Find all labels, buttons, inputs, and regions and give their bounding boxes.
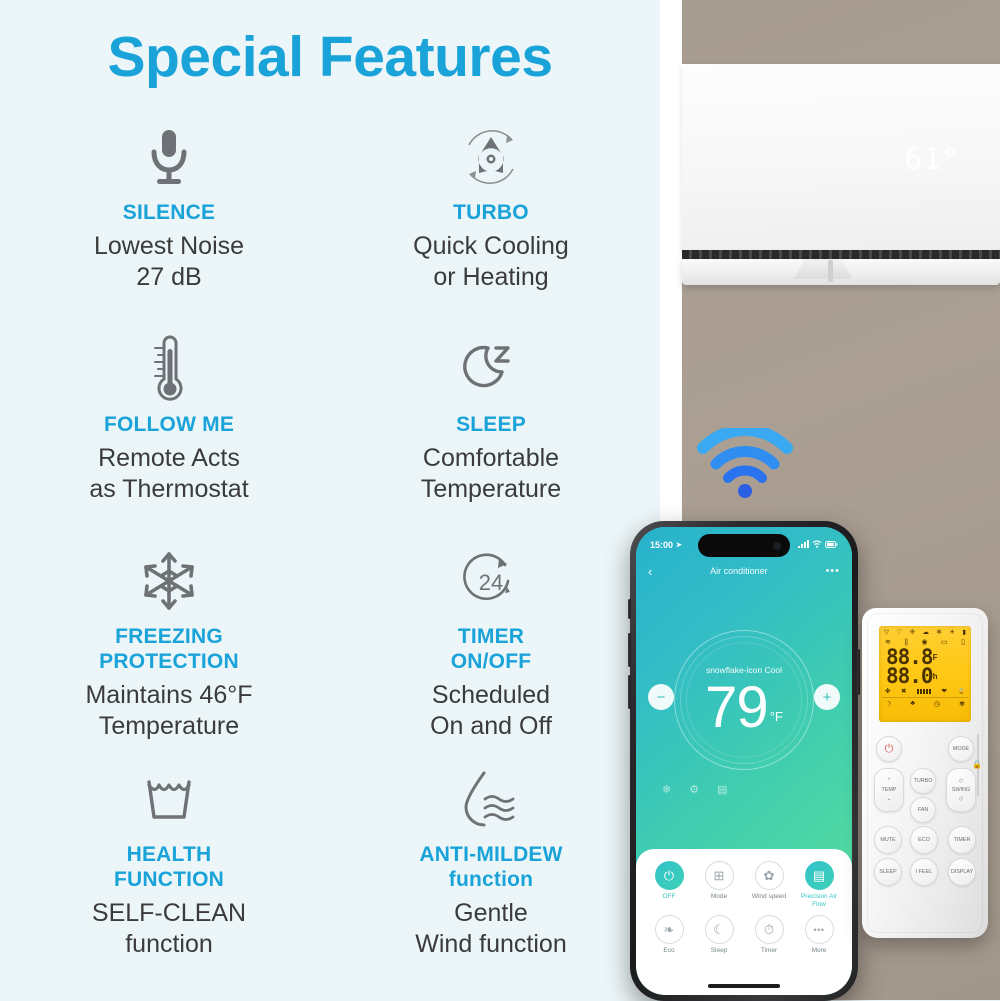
remote-fan-button[interactable]: FAN [910, 797, 936, 823]
stopwatch-icon[interactable]: ⏱ [755, 915, 784, 944]
feature-title-line1: TIMER [451, 624, 532, 649]
back-button[interactable]: ‹ [648, 565, 652, 578]
ac-vent-grille [682, 250, 1000, 259]
header-more-button[interactable]: ••• [825, 565, 840, 577]
moon-sleep-icon[interactable]: ☾ [705, 915, 734, 944]
feature-title-line1: HEALTH [114, 842, 224, 867]
lcd-clean-icon: ✾ [959, 700, 965, 708]
feature-title: SLEEP [456, 412, 526, 437]
snowflake-icon: snowflake-icon [706, 665, 762, 675]
ac-louver [682, 259, 1000, 285]
feature-desc: Quick Cooling or Heating [413, 231, 569, 293]
dial-mode-label: snowflake-icon Cool [636, 665, 852, 675]
feature-turbo: TURBO Quick Cooling or Heating [330, 118, 652, 330]
remote-mute-button[interactable]: MUTE [874, 826, 902, 854]
lcd-heat-icon: ☀ [949, 629, 955, 637]
remote-power-button[interactable]: ⏻ [876, 736, 902, 762]
timer-24h-icon: 24 [458, 542, 524, 620]
app-header: ‹ Air conditioner ••• [636, 561, 852, 581]
wifi-signal-icon [695, 428, 795, 500]
lcd-health-icon: ❤ [942, 687, 947, 695]
turbo-fan-icon [457, 118, 525, 196]
control-label: More [812, 947, 827, 955]
feature-desc-line2: as Thermostat [89, 474, 248, 505]
feature-desc-line2: Temperature [85, 711, 252, 742]
control-timer[interactable]: ⏱ Timer [744, 915, 794, 955]
control-label: Mode [711, 893, 727, 901]
lcd-bottom-icon-row: ☽ ♣ ◷ ✾ [882, 697, 968, 708]
control-grid: ⏻ OFF ⊞ Mode ✿ Wind speed ▤ Precision Ai… [644, 861, 844, 955]
temp-increase-button[interactable]: + [814, 684, 840, 710]
lcd-eco-icon: ♣ [910, 700, 915, 708]
control-label: Timer [761, 947, 777, 955]
phone-silent-switch[interactable] [628, 599, 631, 619]
feature-desc: Remote Acts as Thermostat [89, 443, 248, 505]
temperature-unit: °F [770, 709, 783, 724]
feature-desc-line1: Remote Acts [89, 443, 248, 474]
wash-basin-icon [137, 760, 201, 838]
temp-up-chevron-icon[interactable]: ⌃ [887, 778, 892, 784]
feature-anti-mildew: ANTI-MILDEW function Gentle Wind functio… [330, 760, 652, 982]
control-eco[interactable]: ❧ Eco [644, 915, 694, 955]
lcd-top-icon-row: ▽ ♡ ❊ ☁ ❄ ☀ ▮ [882, 629, 968, 637]
feature-title: TURBO [453, 200, 529, 225]
control-panel: ⏻ OFF ⊞ Mode ✿ Wind speed ▤ Precision Ai… [636, 849, 852, 995]
feature-desc: Maintains 46°F Temperature [85, 680, 252, 742]
features-panel: Special Features SILENCE Lowest Noise 27… [0, 0, 660, 1000]
control-off[interactable]: ⏻ OFF [644, 861, 694, 909]
ac-body: 61° [682, 64, 1000, 254]
battery-icon [825, 540, 838, 550]
home-indicator[interactable] [708, 984, 780, 988]
feature-desc-line1: Gentle [415, 898, 566, 929]
feature-desc-line2: Temperature [421, 474, 561, 505]
ac-louver-notch [828, 260, 833, 282]
wifi-status-icon [812, 540, 822, 550]
feature-timer-on-off: 24 TIMER ON/OFF Scheduled On and Off [330, 542, 652, 760]
feature-title-line2: function [419, 867, 562, 892]
page-title: Special Features [0, 24, 660, 90]
feature-title: SILENCE [123, 200, 215, 225]
remote-eco-button[interactable]: ECO [910, 826, 938, 854]
control-wind-speed[interactable]: ✿ Wind speed [744, 861, 794, 909]
temp-label: TEMP [882, 787, 897, 793]
remote-timer-button[interactable]: TIMER [948, 826, 976, 854]
air-conditioner-unit: 61° [682, 64, 1000, 294]
feature-desc-line1: Quick Cooling [413, 231, 569, 262]
control-label: Eco [663, 947, 674, 955]
lcd-fan-bars-icon [917, 689, 931, 694]
phone-screen: 15:00 ➤ ‹ Air conditioner ••• [636, 527, 852, 995]
control-label: OFF [663, 893, 676, 901]
fan-icon[interactable]: ✿ [755, 861, 784, 890]
feature-desc: SELF-CLEAN function [92, 898, 246, 960]
feature-title: FOLLOW ME [104, 412, 234, 437]
lcd-value-2: 88.0 [886, 664, 933, 688]
feature-desc: Gentle Wind function [415, 898, 566, 960]
feature-title: TIMER ON/OFF [451, 624, 532, 674]
lcd-cool-icon: ❄ [936, 629, 941, 637]
lcd-heart-icon: ♡ [896, 629, 902, 637]
app-title: Air conditioner [710, 566, 768, 576]
feature-title-line1: FREEZING [99, 624, 239, 649]
mini-louver-icon: ▤ [717, 783, 727, 796]
phone-volume-up-button[interactable] [628, 633, 631, 667]
water-drop-icon [458, 760, 524, 838]
swing-up-diamond-icon[interactable]: ◇ [959, 778, 963, 784]
lcd-battery-icon: ▮ [962, 629, 966, 637]
phone-volume-down-button[interactable] [628, 675, 631, 709]
feature-title-line2: PROTECTION [99, 649, 239, 674]
lcd-timer-icon: ◷ [934, 700, 940, 708]
lcd-digits: 88.8F 88.0h [882, 648, 968, 686]
feature-title-line2: ON/OFF [451, 649, 532, 674]
feature-desc: Comfortable Temperature [421, 443, 561, 505]
mode-grid-icon[interactable]: ⊞ [705, 861, 734, 890]
lcd-wifi-icon: ▽ [884, 629, 889, 637]
moon-sleep-icon [458, 330, 524, 408]
remote-temp-button[interactable]: ⌃ TEMP ⌄ [874, 768, 904, 812]
feature-desc-line2: On and Off [430, 711, 552, 742]
smartphone: 15:00 ➤ ‹ Air conditioner ••• [630, 521, 858, 1001]
feature-title-line1: ANTI-MILDEW [419, 842, 562, 867]
thermometer-icon [144, 330, 194, 408]
lcd-lock-icon: 🔒 [957, 688, 964, 695]
feature-desc-line2: 27 dB [94, 262, 244, 293]
feature-desc-line1: Comfortable [421, 443, 561, 474]
remote-turbo-button[interactable]: TURBO [910, 768, 936, 794]
lcd-display-icon: ▯ [961, 638, 965, 647]
power-icon[interactable]: ⏻ [655, 861, 684, 890]
swing-down-diamond-icon[interactable]: ◇ [959, 796, 963, 802]
remote-sleep-button[interactable]: SLEEP [874, 858, 902, 886]
feature-title: HEALTH FUNCTION [114, 842, 224, 892]
temp-down-chevron-icon[interactable]: ⌄ [887, 796, 892, 802]
feature-desc-line2: function [92, 929, 246, 960]
temp-decrease-button[interactable]: − [648, 684, 674, 710]
control-label: Wind speed [752, 893, 786, 901]
lcd-dry-icon: ☁ [922, 629, 929, 637]
lcd-turbo-icon: ✤ [885, 687, 890, 695]
remote-lcd-display: ▽ ♡ ❊ ☁ ❄ ☀ ▮ ≋ || ◉ ▭ ▯ 88.8F 88.0h ✤ ✖… [879, 626, 971, 722]
control-label: Precision Air Flow [795, 893, 843, 909]
remote-mode-button[interactable]: MODE [948, 736, 974, 762]
signal-bars-icon [798, 540, 809, 550]
air-flow-icon[interactable]: ▤ [805, 861, 834, 890]
lcd-mute-icon: ✖ [901, 687, 906, 695]
swing-label: SWING [952, 787, 970, 793]
feature-silence: SILENCE Lowest Noise 27 dB [8, 118, 330, 330]
control-precision-air-flow[interactable]: ▤ Precision Air Flow [794, 861, 844, 909]
lcd-louver-icon: ▭ [941, 638, 948, 647]
leaf-eco-icon[interactable]: ❧ [655, 915, 684, 944]
remote-lock-icon: 🔒 [972, 760, 982, 769]
snowflake-icon [137, 542, 201, 620]
feature-follow-me: FOLLOW ME Remote Acts as Thermostat [8, 330, 330, 542]
control-more[interactable]: ••• More [794, 915, 844, 955]
lcd-auto-icon: ❊ [910, 629, 915, 637]
feature-desc-line2: or Heating [413, 262, 569, 293]
phone-power-button[interactable] [857, 649, 860, 695]
svg-text:24: 24 [479, 570, 503, 595]
feature-title-line2: FUNCTION [114, 867, 224, 892]
feature-desc-line1: Lowest Noise [94, 231, 244, 262]
control-mode[interactable]: ⊞ Mode [694, 861, 744, 909]
status-time: 15:00 [650, 540, 673, 550]
feature-desc-line1: Scheduled [430, 680, 552, 711]
feature-desc: Scheduled On and Off [430, 680, 552, 742]
control-sleep[interactable]: ☾ Sleep [694, 915, 744, 955]
control-label: Sleep [711, 947, 728, 955]
feature-sleep: SLEEP Comfortable Temperature [330, 330, 652, 542]
feature-health-function: HEALTH FUNCTION SELF-CLEAN function [8, 760, 330, 982]
feature-desc-line1: Maintains 46°F [85, 680, 252, 711]
mini-fan-icon: ⚙ [689, 783, 699, 796]
feature-desc: Lowest Noise 27 dB [94, 231, 244, 293]
lcd-unit-1: F [933, 653, 937, 662]
status-mini-icons: ❄ ⚙ ▤ [636, 783, 852, 796]
feature-title: FREEZING PROTECTION [99, 624, 239, 674]
mini-snowflake-icon: ❄ [662, 783, 671, 796]
features-grid: SILENCE Lowest Noise 27 dB [8, 118, 652, 982]
feature-freezing-protection: FREEZING PROTECTION Maintains 46°F Tempe… [8, 542, 330, 760]
microphone-icon [141, 118, 197, 196]
temperature-value: 79 [705, 675, 768, 740]
ac-remote-control: ▽ ♡ ❊ ☁ ❄ ☀ ▮ ≋ || ◉ ▭ ▯ 88.8F 88.0h ✤ ✖… [862, 608, 988, 938]
feature-desc-line1: SELF-CLEAN [92, 898, 246, 929]
feature-desc-line2: Wind function [415, 929, 566, 960]
mode-text: Cool [765, 665, 782, 675]
lcd-digits-line2: 88.0h [886, 667, 968, 686]
location-arrow-icon: ➤ [676, 541, 682, 549]
remote-ifeel-button[interactable]: I FEEL [910, 858, 938, 886]
remote-display-button[interactable]: DISPLAY [948, 858, 976, 886]
temperature-dial: snowflake-icon Cool 79°F − + [636, 622, 852, 772]
remote-swing-button[interactable]: ◇ SWING ◇ [946, 768, 976, 812]
ellipsis-more-icon[interactable]: ••• [805, 915, 834, 944]
lcd-unit-2: h [933, 672, 937, 681]
ac-temperature-display: 61° [905, 142, 960, 176]
lcd-sleep-icon: ☽ [885, 700, 891, 708]
status-bar: 15:00 ➤ [636, 535, 852, 555]
feature-title: ANTI-MILDEW function [419, 842, 562, 892]
